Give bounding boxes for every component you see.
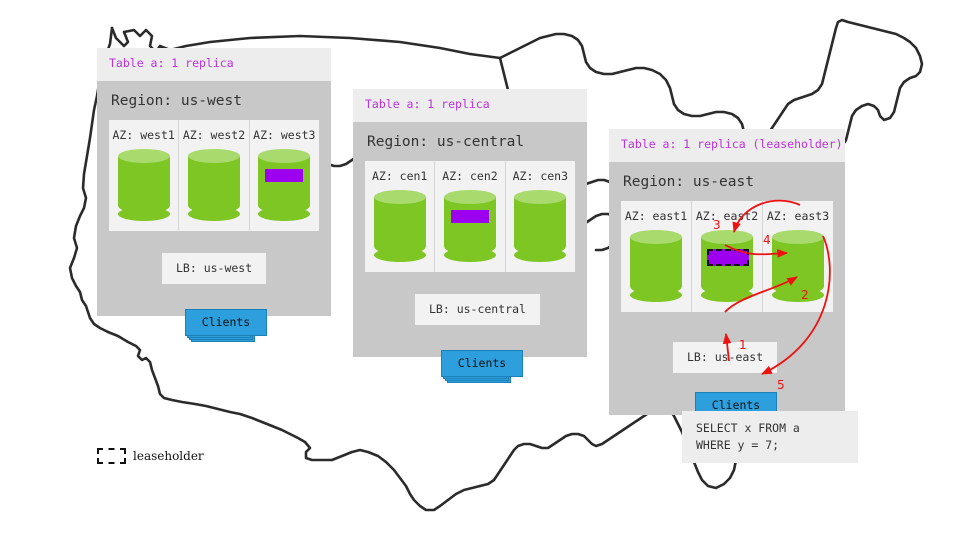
legend: leaseholder bbox=[97, 448, 204, 464]
leaseholder-chip-east2 bbox=[707, 249, 749, 266]
cylinder-body bbox=[514, 197, 566, 255]
az-label-west1: AZ: west1 bbox=[109, 128, 178, 142]
az-cell-east1[interactable]: AZ: east1 bbox=[621, 201, 692, 312]
load-balancer-us-east[interactable]: LB: us-east bbox=[673, 342, 777, 373]
region-body-us-east: Region: us-east AZ: east1 AZ: east2 bbox=[609, 162, 845, 415]
az-row-us-west: AZ: west1 AZ: west2 AZ bbox=[109, 120, 319, 231]
cylinder-body bbox=[772, 237, 824, 295]
leaseholder-swatch-icon bbox=[97, 448, 126, 464]
node-cylinder-cen3[interactable] bbox=[514, 190, 566, 262]
az-cell-west2[interactable]: AZ: west2 bbox=[179, 120, 249, 231]
region-title-us-west: Region: us-west bbox=[97, 81, 331, 120]
cylinder-top bbox=[118, 149, 170, 163]
node-cylinder-east3[interactable] bbox=[772, 230, 824, 302]
az-label-east3: AZ: east3 bbox=[763, 209, 833, 223]
cylinder-body bbox=[258, 156, 310, 214]
cylinder-top bbox=[701, 230, 753, 244]
step-number-4: 4 bbox=[763, 233, 771, 247]
replica-chip-cen2 bbox=[451, 210, 489, 223]
region-panel-us-west: Table a: 1 replica Region: us-west AZ: w… bbox=[97, 48, 331, 316]
az-cell-cen1[interactable]: AZ: cen1 bbox=[365, 161, 435, 272]
clients-label-us-west[interactable]: Clients bbox=[185, 309, 267, 336]
step-number-5: 5 bbox=[777, 378, 785, 392]
az-row-us-central: AZ: cen1 AZ: cen2 bbox=[365, 161, 575, 272]
region-title-us-east: Region: us-east bbox=[609, 162, 845, 201]
node-cylinder-cen2[interactable] bbox=[444, 190, 496, 262]
cylinder-body bbox=[701, 237, 753, 295]
step-number-1: 1 bbox=[739, 338, 747, 352]
load-balancer-us-central[interactable]: LB: us-central bbox=[415, 294, 540, 325]
az-label-cen3: AZ: cen3 bbox=[506, 169, 575, 183]
cylinder-body bbox=[118, 156, 170, 214]
clients-label-us-central[interactable]: Clients bbox=[441, 350, 523, 377]
node-cylinder-east2[interactable] bbox=[701, 230, 753, 302]
cylinder-top bbox=[630, 230, 682, 244]
region-body-us-central: Region: us-central AZ: cen1 AZ: cen2 bbox=[353, 122, 587, 357]
node-cylinder-cen1[interactable] bbox=[374, 190, 426, 262]
clients-us-central[interactable]: Clients bbox=[441, 350, 503, 375]
table-label-us-central: Table a: 1 replica bbox=[353, 89, 587, 122]
az-label-cen2: AZ: cen2 bbox=[435, 169, 504, 183]
az-label-cen1: AZ: cen1 bbox=[365, 169, 434, 183]
clients-us-west[interactable]: Clients bbox=[185, 309, 247, 334]
load-balancer-us-west[interactable]: LB: us-west bbox=[162, 253, 266, 284]
az-cell-east3[interactable]: AZ: east3 bbox=[763, 201, 833, 312]
cylinder-body bbox=[444, 197, 496, 255]
node-cylinder-west3[interactable] bbox=[258, 149, 310, 221]
node-cylinder-west1[interactable] bbox=[118, 149, 170, 221]
node-cylinder-west2[interactable] bbox=[188, 149, 240, 221]
az-cell-east2[interactable]: AZ: east2 bbox=[692, 201, 763, 312]
cylinder-body bbox=[630, 237, 682, 295]
az-label-east2: AZ: east2 bbox=[692, 209, 762, 223]
region-title-us-central: Region: us-central bbox=[353, 122, 587, 161]
step-number-2: 2 bbox=[801, 288, 809, 302]
cylinder-top bbox=[258, 149, 310, 163]
az-label-east1: AZ: east1 bbox=[621, 209, 691, 223]
cylinder-top bbox=[514, 190, 566, 204]
cylinder-body bbox=[188, 156, 240, 214]
az-label-west2: AZ: west2 bbox=[179, 128, 248, 142]
replica-chip-west3 bbox=[265, 169, 303, 182]
region-body-us-west: Region: us-west AZ: west1 AZ: west2 bbox=[97, 81, 331, 316]
az-label-west3: AZ: west3 bbox=[250, 128, 319, 142]
sql-statement-box: SELECT x FROM a WHERE y = 7; bbox=[682, 411, 858, 463]
az-cell-cen3[interactable]: AZ: cen3 bbox=[506, 161, 575, 272]
node-cylinder-east1[interactable] bbox=[630, 230, 682, 302]
cylinder-top bbox=[374, 190, 426, 204]
cylinder-top bbox=[772, 230, 824, 244]
az-cell-cen2[interactable]: AZ: cen2 bbox=[435, 161, 505, 272]
az-cell-west1[interactable]: AZ: west1 bbox=[109, 120, 179, 231]
legend-label: leaseholder bbox=[133, 449, 204, 463]
cylinder-top bbox=[188, 149, 240, 163]
table-label-us-west: Table a: 1 replica bbox=[97, 48, 331, 81]
table-label-us-east: Table a: 1 replica (leaseholder) bbox=[609, 129, 845, 162]
diagram-stage: Table a: 1 replica Region: us-west AZ: w… bbox=[0, 0, 960, 540]
cylinder-top bbox=[444, 190, 496, 204]
region-panel-us-east: Table a: 1 replica (leaseholder) Region:… bbox=[609, 129, 845, 415]
az-cell-west3[interactable]: AZ: west3 bbox=[250, 120, 319, 231]
region-panel-us-central: Table a: 1 replica Region: us-central AZ… bbox=[353, 89, 587, 357]
cylinder-body bbox=[374, 197, 426, 255]
step-number-3: 3 bbox=[713, 218, 721, 232]
